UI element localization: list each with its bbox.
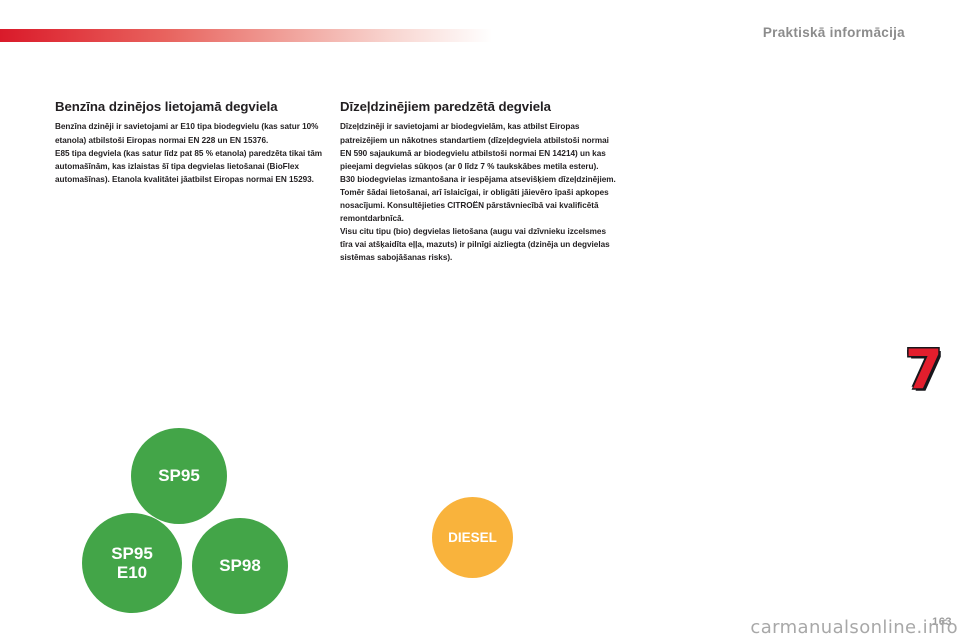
- diesel-section-title: Dīzeļdzinējiem paredzētā degviela: [340, 98, 618, 115]
- fuel-badge-sp95-label: SP95: [158, 466, 200, 485]
- manual-page: Praktiskā informācija 7 Benzīna dzinējos…: [0, 0, 960, 640]
- diesel-paragraph-3: Visu citu tipu (bio) degvielas lietošana…: [340, 225, 618, 264]
- fuel-badge-sp95-e10-label: SP95: [111, 544, 153, 563]
- diesel-paragraph-2: B30 biodegvielas izmantošana ir iespējam…: [340, 173, 618, 225]
- column-diesel-fuel: Dīzeļdzinējiem paredzētā degviela Dīzeļd…: [340, 98, 618, 264]
- diesel-paragraph-1: Dīzeļdzinēji ir savietojami ar biodegvie…: [340, 120, 618, 172]
- fuel-badge-sp95: SP95: [131, 428, 227, 524]
- column-petrol-fuel: Benzīna dzinējos lietojamā degviela Benz…: [55, 98, 333, 186]
- site-watermark: carmanualsonline.info: [750, 617, 958, 638]
- fuel-badge-diesel-label: DIESEL: [448, 530, 497, 545]
- section-header-title: Praktiskā informācija: [763, 25, 905, 40]
- fuel-badge-sp95-e10: SP95 E10: [82, 513, 182, 613]
- fuel-badge-sp95-e10-sublabel: E10: [117, 563, 147, 582]
- chapter-number: 7: [905, 343, 943, 397]
- fuel-badge-sp98-label: SP98: [219, 556, 261, 575]
- petrol-paragraph-2: E85 tipa degviela (kas satur līdz pat 85…: [55, 147, 333, 186]
- top-accent-rule: [0, 29, 492, 42]
- petrol-section-title: Benzīna dzinējos lietojamā degviela: [55, 98, 333, 115]
- fuel-badge-diesel: DIESEL: [432, 497, 513, 578]
- petrol-paragraph-1: Benzīna dzinēji ir savietojami ar E10 ti…: [55, 120, 333, 146]
- fuel-badge-sp98: SP98: [192, 518, 288, 614]
